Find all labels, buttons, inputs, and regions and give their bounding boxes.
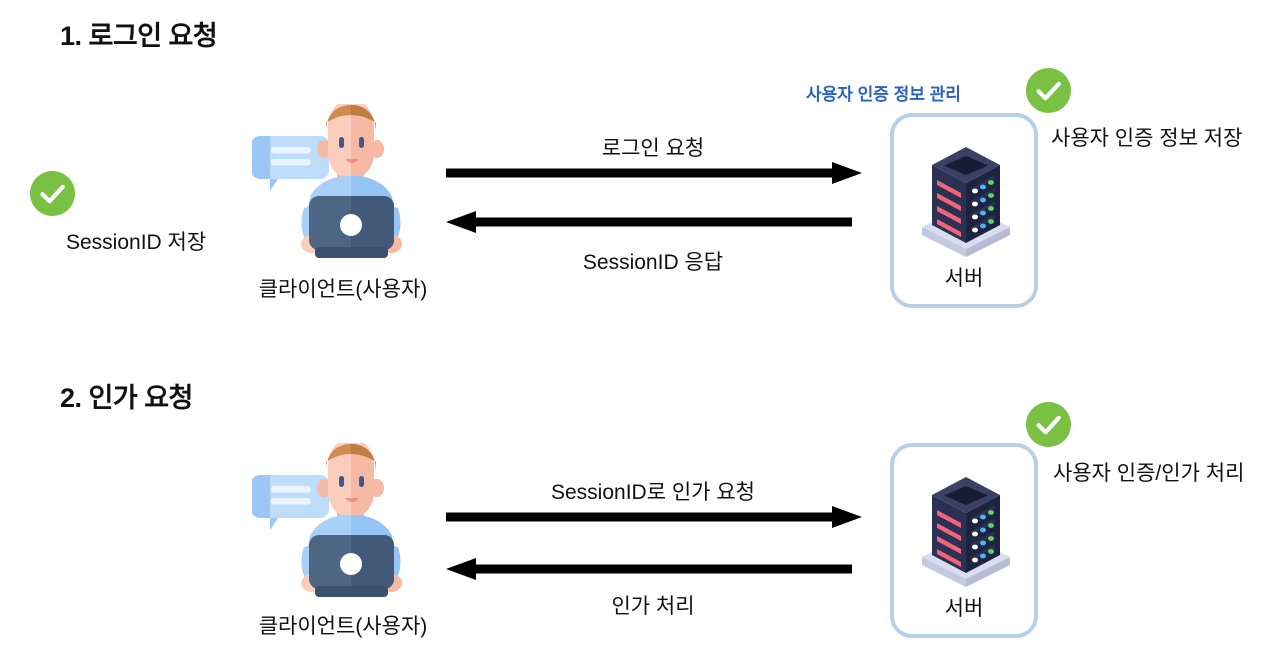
server-rack-icon [916, 131, 1016, 266]
section-title-authz: 2. 인가 요청 [60, 376, 193, 415]
server-card-authz: 서버 [890, 443, 1038, 638]
diagram-canvas: 1. 로그인 요청 SessionID 저장 [0, 0, 1280, 659]
server-caption-authz: 서버 [894, 592, 1034, 622]
arrow-left-sessionid-response [446, 211, 852, 233]
arrow-label-authz-request: SessionID로 인가 요청 [448, 476, 858, 506]
server-rack-icon [916, 461, 1016, 596]
person-with-laptop-icon [252, 104, 432, 264]
check-circle-icon [30, 171, 75, 216]
server-card-login: 서버 [890, 113, 1038, 308]
arrow-right-authz-request [446, 506, 862, 528]
check-circle-icon [1026, 68, 1071, 113]
server-caption-login: 서버 [894, 262, 1034, 292]
check-circle-icon [1026, 402, 1071, 447]
section-title-login: 1. 로그인 요청 [60, 14, 217, 53]
server-store-auth-label: 사용자 인증 정보 저장 [1051, 122, 1242, 152]
arrow-right-login-request [446, 162, 862, 184]
client-caption: 클라이언트(사용자) [243, 273, 443, 303]
arrow-label-sessionid-response: SessionID 응답 [448, 246, 858, 276]
person-with-laptop-icon [252, 443, 432, 603]
client-caption: 클라이언트(사용자) [243, 610, 443, 640]
server-authz-process-label: 사용자 인증/인가 처리 [1053, 457, 1244, 487]
arrow-label-login-request: 로그인 요청 [448, 132, 858, 162]
arrow-left-authz-result [446, 558, 852, 580]
sessionid-store-label: SessionID 저장 [66, 226, 206, 256]
arrow-label-authz-result: 인가 처리 [448, 590, 858, 620]
server-top-label-login: 사용자 인증 정보 관리 [806, 80, 961, 105]
